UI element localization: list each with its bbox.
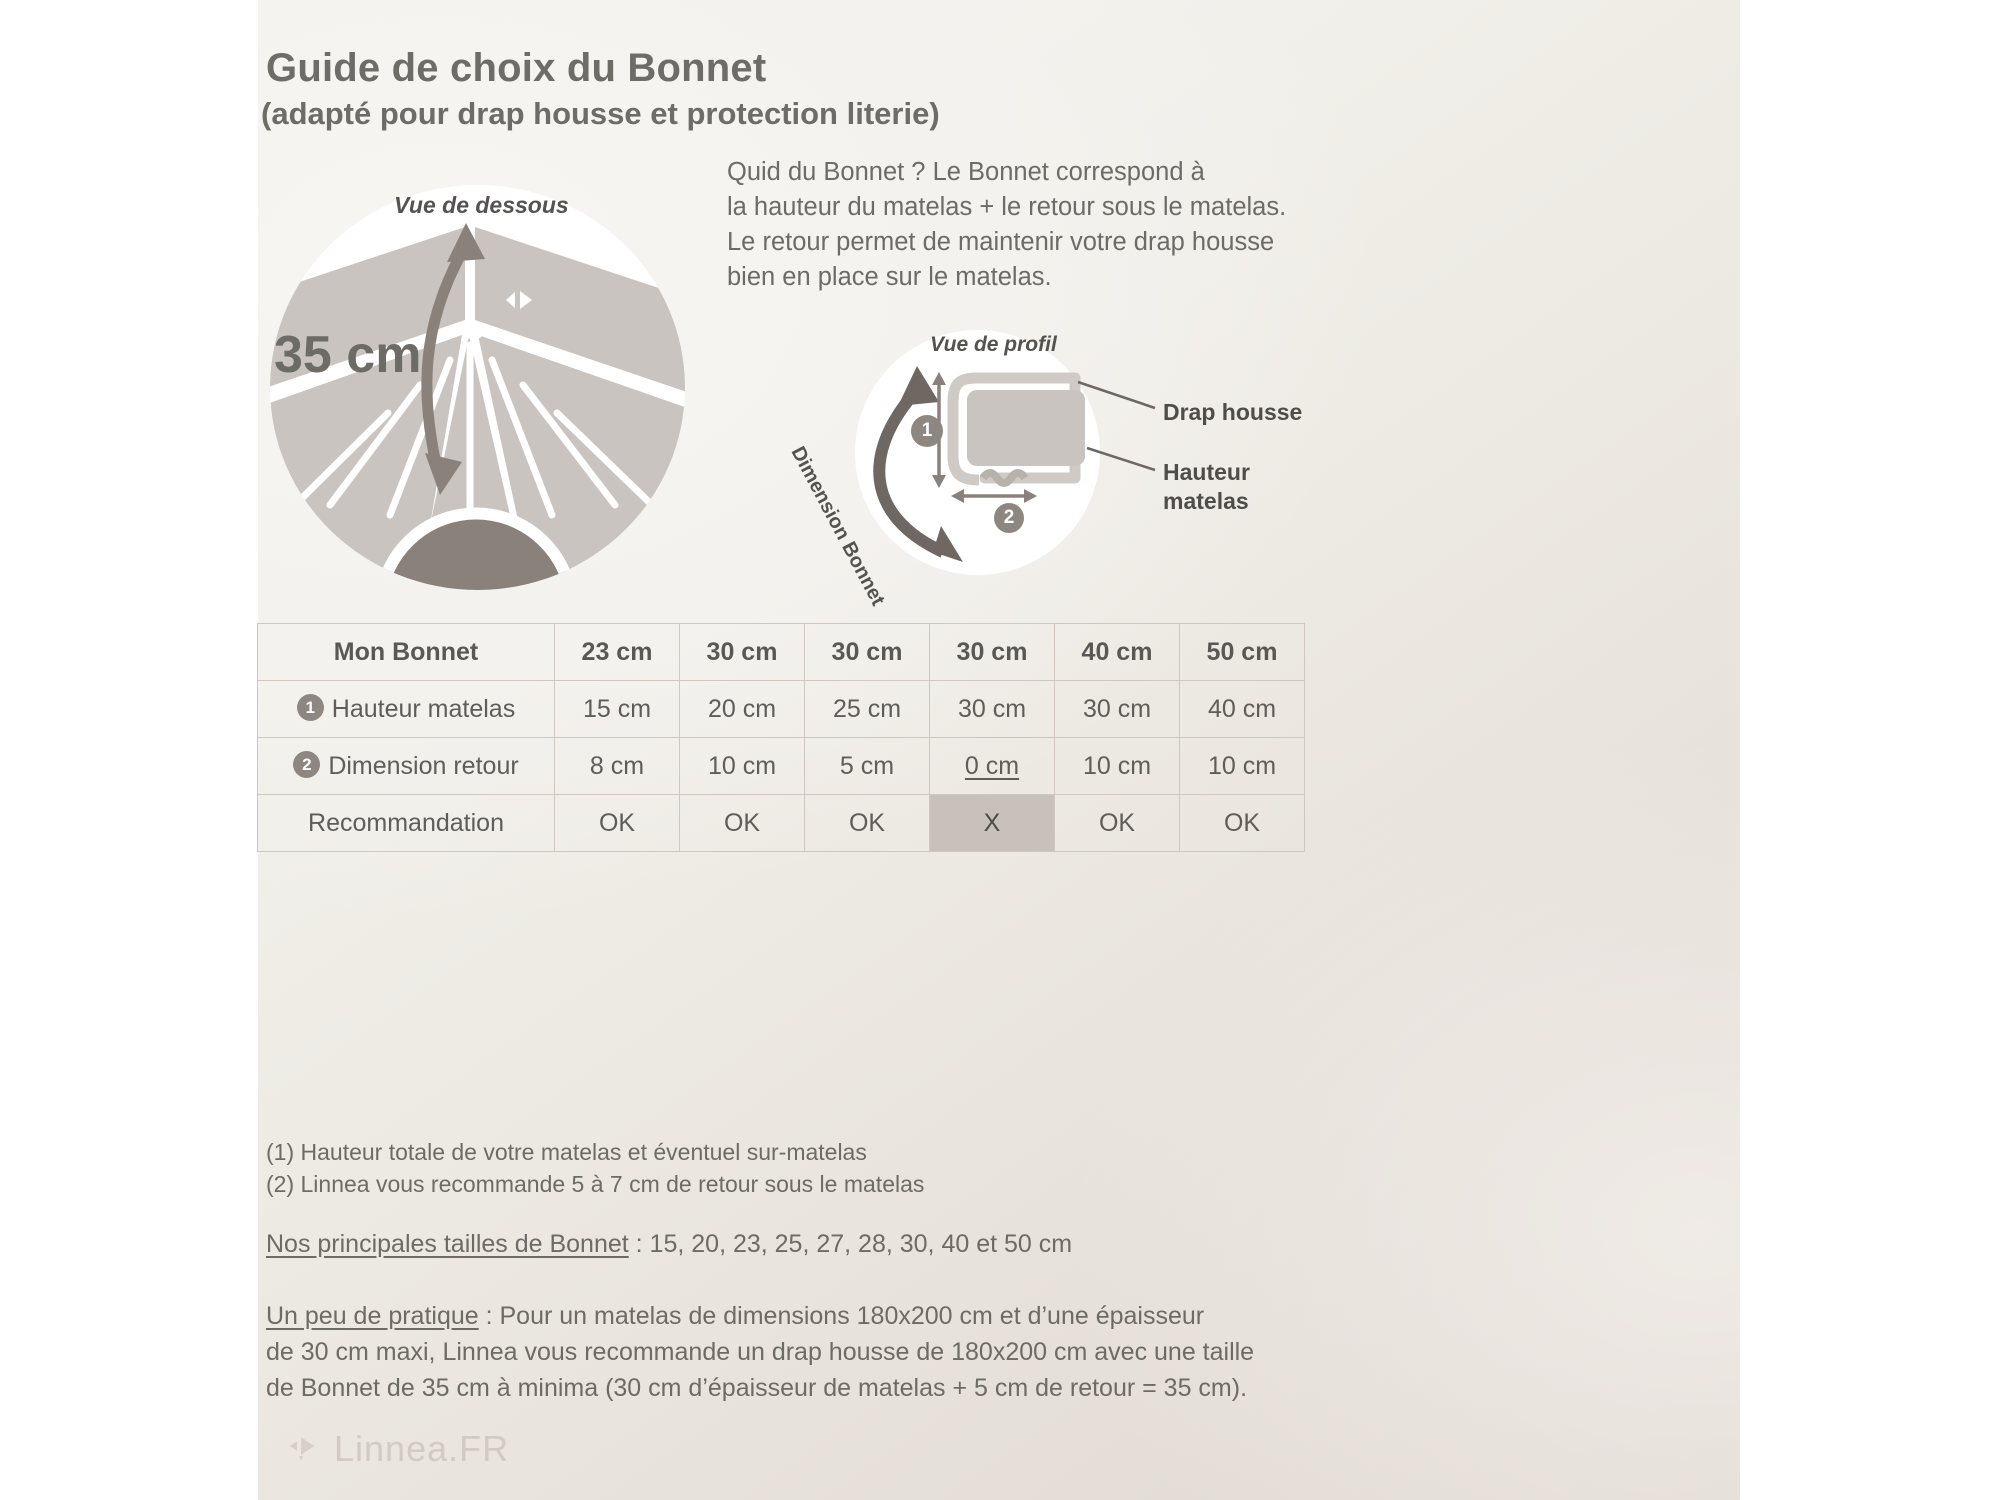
table-row: RecommandationOKOKOKXOKOK [258,795,1305,852]
left-white-band [0,0,258,1500]
bottom-view-label: Vue de dessous [394,192,569,219]
table-header-cell: 30 cm [680,624,805,681]
sizes-value: : 15, 20, 23, 25, 27, 28, 30, 40 et 50 c… [629,1230,1072,1258]
table-header-cell: 30 cm [930,624,1055,681]
page-title: Guide de choix du Bonnet [266,46,766,91]
table-cell: OK [805,795,930,852]
table-cell: OK [555,795,680,852]
callout-leader-lines [1078,382,1155,470]
profile-view-label: Vue de profil [930,333,1057,357]
table-cell: 5 cm [805,738,930,795]
profile-view-diagram [855,330,1100,575]
row-badge: 1 [297,694,324,721]
row-badge: 2 [293,751,320,778]
page-subtitle: (adapté pour drap housse et protection l… [261,96,940,132]
table-row: 2Dimension retour8 cm10 cm5 cm0 cm10 cm1… [258,738,1305,795]
table-cell: 30 cm [1055,681,1180,738]
table-header-label: Mon Bonnet [258,624,555,681]
practice-line: Un peu de pratique : Pour un matelas de … [266,1298,1254,1406]
table-cell: 20 cm [680,681,805,738]
table-cell: 0 cm [930,738,1055,795]
table-row-label: 1Hauteur matelas [258,681,555,738]
bonnet-measure-35cm: 35 cm [274,325,421,385]
table-cell: 15 cm [555,681,680,738]
table-cell: 30 cm [930,681,1055,738]
table-header-cell: 50 cm [1180,624,1305,681]
table-header-cell: 23 cm [555,624,680,681]
infographic-canvas: Guide de choix du Bonnet (adapté pour dr… [0,0,2000,1500]
linnea-logo[interactable]: Linnea.FR [284,1428,509,1470]
retour-dimension-arrow [951,489,1037,503]
bottom-view-diagram [270,185,685,590]
table-header-row: Mon Bonnet23 cm30 cm30 cm30 cm40 cm50 cm [258,624,1305,681]
sizes-label: Nos principales tailles de Bonnet [266,1230,629,1258]
callout-hauteur-matelas: Hauteur matelas [1163,458,1250,516]
mattress-block [967,390,1085,466]
profile-badge-2: 2 [994,503,1024,533]
linnea-diamond-icon [284,1434,320,1464]
right-white-band [1740,0,2000,1500]
intro-paragraph: Quid du Bonnet ? Le Bonnet correspond à … [727,155,1286,295]
linnea-wordmark: Linnea.FR [334,1428,509,1470]
table-footnotes: (1) Hauteur totale de votre matelas et é… [266,1136,924,1200]
table-cell: 10 cm [1180,738,1305,795]
table-cell: OK [1180,795,1305,852]
callout-drap-housse: Drap housse [1163,398,1302,427]
profile-badge-1: 1 [911,415,943,447]
table-cell: 25 cm [805,681,930,738]
table-cell: 10 cm [680,738,805,795]
underlined-value: 0 cm [965,752,1019,780]
table-cell: OK [1055,795,1180,852]
table-cell: 40 cm [1180,681,1305,738]
sizes-line: Nos principales tailles de Bonnet : 15, … [266,1228,1072,1260]
table-cell: OK [680,795,805,852]
table-cell: 8 cm [555,738,680,795]
table-header-cell: 30 cm [805,624,930,681]
table-cell: 10 cm [1055,738,1180,795]
bonnet-table: Mon Bonnet23 cm30 cm30 cm30 cm40 cm50 cm… [257,623,1305,852]
table-header-cell: 40 cm [1055,624,1180,681]
profile-view-svg [855,330,1100,575]
table-row-label: Recommandation [258,795,555,852]
bottom-view-svg [270,185,685,590]
practice-label: Un peu de pratique [266,1302,479,1330]
table-row-label: 2Dimension retour [258,738,555,795]
table-cell: X [930,795,1055,852]
table-row: 1Hauteur matelas15 cm20 cm25 cm30 cm30 c… [258,681,1305,738]
